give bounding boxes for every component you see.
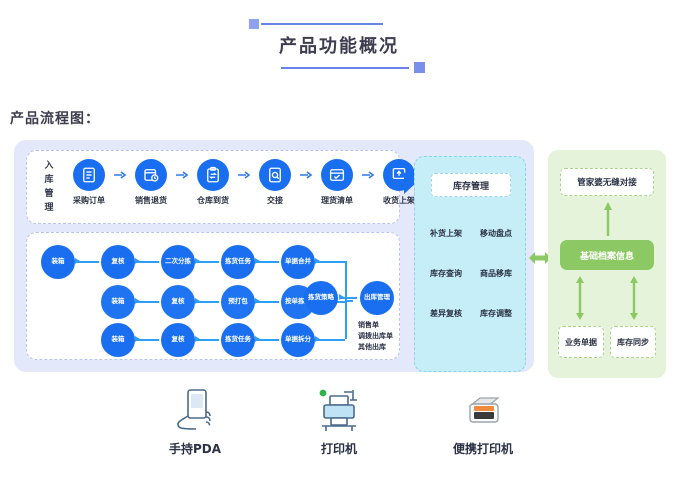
connector-arrow-r1-d	[255, 258, 260, 264]
inbound-process-box: 入库管理 采购订单	[26, 150, 400, 224]
node-doc-split-r3[interactable]: 单据拆分	[281, 323, 315, 357]
page-header: 产品功能概况	[0, 16, 678, 74]
integration-top-box[interactable]: 管家婆无缝对接	[560, 168, 654, 196]
connector-r2-a	[137, 301, 159, 303]
node-packing-r1[interactable]: 装箱	[41, 245, 75, 279]
inbound-step-purchase-order[interactable]: 采购订单	[65, 159, 113, 206]
inbound-step-label: 交接	[251, 195, 299, 206]
flow-arrow-icon	[113, 159, 127, 191]
device-portable-printer[interactable]: 便携打印机	[435, 382, 531, 457]
inbound-step-sales-return[interactable]: 销售退货	[127, 159, 175, 206]
connector-r3-a	[137, 339, 159, 341]
branch-bracket-stub	[345, 300, 353, 302]
green-up-arrow-icon	[604, 202, 612, 236]
decor-square-top-icon	[249, 19, 259, 29]
portable-printer-icon	[435, 382, 531, 434]
device-label: 打印机	[291, 440, 387, 457]
section-label: 产品流程图：	[10, 108, 100, 128]
connector-r3-b	[197, 339, 219, 341]
decor-line-bottom-icon	[281, 67, 409, 69]
inventory-panel: 库存管理 补货上架 移动盘点 库存查询 商品移库 差异复核 库存调整	[414, 156, 526, 372]
node-doc-merge-r1[interactable]: 单据合并	[281, 245, 315, 279]
document-icon	[73, 159, 105, 191]
node-packing-r2[interactable]: 装箱	[101, 285, 135, 319]
inbound-step-label: 销售退货	[127, 195, 175, 206]
inventory-item-stock-adjust[interactable]: 库存调整	[471, 293, 521, 333]
inbound-vertical-label: 入库管理	[41, 159, 57, 215]
blue-right-arrow-icon	[390, 172, 416, 194]
integration-center-box[interactable]: 基础档案信息	[560, 240, 654, 270]
integration-stock-sync-box[interactable]: 库存同步	[610, 326, 656, 358]
connector-arrow-r2-a	[135, 298, 140, 304]
connector-arrow-r3-b	[195, 336, 200, 342]
box-search-icon	[259, 159, 291, 191]
inventory-item-goods-transfer[interactable]: 商品移库	[471, 253, 521, 293]
inbound-step-label: 理货清单	[313, 195, 361, 206]
connector-arrow-r1-e	[315, 258, 320, 264]
node-recheck-r2[interactable]: 复核	[161, 285, 195, 319]
integration-business-doc-box[interactable]: 业务单据	[558, 326, 604, 358]
flow-arrow-icon	[361, 159, 375, 191]
node-packing-r3[interactable]: 装箱	[101, 323, 135, 357]
node-pick-task-r1[interactable]: 拣货任务	[221, 245, 255, 279]
inbound-step-label: 仓库到货	[189, 195, 237, 206]
handheld-pda-icon	[147, 382, 243, 434]
title-decoration-group: 产品功能概况	[239, 16, 439, 74]
connector-r1-a	[77, 261, 99, 263]
node-pick-strategy[interactable]: 拣货策略	[304, 281, 338, 315]
green-double-vertical-arrow-left-icon	[576, 276, 584, 320]
node-recheck-r1[interactable]: 复核	[101, 245, 135, 279]
decor-line-top-icon	[261, 23, 383, 25]
flow-arrow-icon	[237, 159, 251, 191]
connector-arrow-r3-c	[255, 336, 260, 342]
connector-arrow-strategy	[339, 294, 344, 300]
connector-r2-c	[257, 301, 279, 303]
connector-arrow-r2-c	[255, 298, 260, 304]
connector-arrow-r2-b	[195, 298, 200, 304]
inbound-step-label: 采购订单	[65, 195, 113, 206]
connector-r1-e	[317, 261, 345, 263]
inventory-item-variance-recheck[interactable]: 差异复核	[421, 293, 471, 333]
integration-panel: 管家婆无缝对接 基础档案信息 业务单据 库存同步	[548, 150, 666, 378]
connector-r3-d	[317, 339, 345, 341]
inventory-panel-title: 库存管理	[431, 173, 511, 197]
connector-arrow-r3-a	[135, 336, 140, 342]
connector-r1-c	[197, 261, 219, 263]
calendar-clock-icon	[135, 159, 167, 191]
device-label: 便携打印机	[435, 440, 531, 457]
node-recheck-r3[interactable]: 复核	[161, 323, 195, 357]
node-prepack-r2[interactable]: 预打包	[221, 285, 255, 319]
node-outbound-mgmt[interactable]: 出库管理	[360, 281, 394, 315]
inbound-step-handover[interactable]: 交接	[251, 159, 299, 206]
connector-arrow-r1-c	[195, 258, 200, 264]
device-printer[interactable]: 打印机	[291, 382, 387, 457]
decor-square-bottom-icon	[414, 62, 425, 73]
outbound-note-other-out: 其他出库	[358, 342, 386, 352]
flow-arrow-icon	[175, 159, 189, 191]
clipboard-exchange-icon	[197, 159, 229, 191]
connector-arrow-r1-b	[135, 258, 140, 264]
device-row: 手持PDA 打印机	[0, 382, 678, 457]
green-double-vertical-arrow-right-icon	[630, 276, 638, 320]
connector-arrow-r1-a	[75, 258, 80, 264]
inventory-item-replenish-shelve[interactable]: 补货上架	[421, 213, 471, 253]
connector-r1-d	[257, 261, 279, 263]
connector-r1-b	[137, 261, 159, 263]
printer-icon	[291, 382, 387, 434]
inbound-step-tally-list[interactable]: 理货清单	[313, 159, 361, 206]
connector-r2-b	[197, 301, 219, 303]
checklist-box-icon	[321, 159, 353, 191]
connector-r3-c	[257, 339, 279, 341]
page-title: 产品功能概况	[239, 32, 439, 58]
inventory-item-grid: 补货上架 移动盘点 库存查询 商品移库 差异复核 库存调整	[421, 213, 521, 333]
device-label: 手持PDA	[147, 440, 243, 457]
inbound-step-warehouse-arrival[interactable]: 仓库到货	[189, 159, 237, 206]
connector-arrow-r3-d	[315, 336, 320, 342]
inventory-item-stock-query[interactable]: 库存查询	[421, 253, 471, 293]
inbound-step-row: 采购订单 销售退货	[65, 159, 423, 206]
device-handheld-pda[interactable]: 手持PDA	[147, 382, 243, 457]
outbound-note-sales-order: 销售单	[358, 320, 379, 330]
node-second-sort-r1[interactable]: 二次分拣	[161, 245, 195, 279]
page-root: 产品功能概况 产品流程图： 入库管理 采购订单	[0, 0, 678, 482]
flow-arrow-icon	[299, 159, 313, 191]
outbound-note-transfer-out: 调拨出库单	[358, 331, 393, 341]
node-pick-task-r3[interactable]: 拣货任务	[221, 323, 255, 357]
inventory-item-mobile-count[interactable]: 移动盘点	[471, 213, 521, 253]
